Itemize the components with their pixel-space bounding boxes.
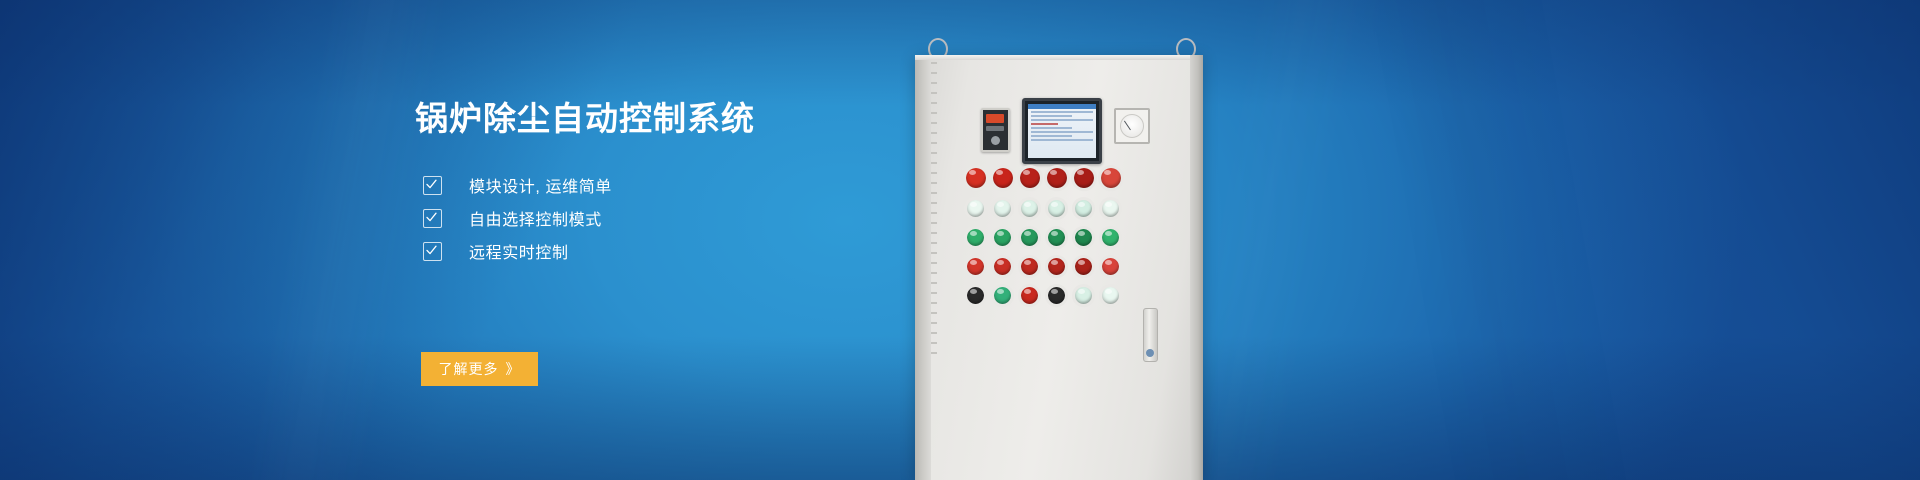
learn-more-label: 了解更多 — [439, 359, 499, 379]
indicator-lamp[interactable] — [1075, 200, 1092, 217]
indicator-lamp[interactable] — [967, 200, 984, 217]
indicator-lamp-cell — [1097, 287, 1124, 304]
indicator-lamp-cell — [962, 229, 989, 246]
check-icon — [423, 176, 442, 195]
feature-label: 模块设计, 运维简单 — [469, 173, 612, 197]
feature-label: 自由选择控制模式 — [469, 206, 602, 230]
indicator-lamp[interactable] — [994, 200, 1011, 217]
indicator-lamp-cell — [989, 287, 1016, 304]
list-item: 自由选择控制模式 — [423, 202, 935, 235]
indicator-lamp-cell — [1070, 258, 1097, 275]
indicator-lamp[interactable] — [1101, 168, 1121, 188]
indicator-lamp-cell — [1070, 229, 1097, 246]
page-title: 锅炉除尘自动控制系统 — [415, 100, 935, 139]
indicator-lamp-cell — [1070, 287, 1097, 304]
indicator-lamp-cell — [989, 200, 1016, 217]
list-item: 模块设计, 运维简单 — [423, 169, 935, 202]
indicator-lamp-grid — [962, 168, 1152, 316]
indicator-lamp-cell — [1043, 258, 1070, 275]
analog-gauge — [1114, 108, 1150, 144]
indicator-lamp[interactable] — [1021, 287, 1038, 304]
indicator-lamp-cell — [989, 229, 1016, 246]
indicator-lamp-cell — [1070, 168, 1097, 188]
indicator-lamp[interactable] — [967, 229, 984, 246]
indicator-lamp-row — [962, 200, 1152, 217]
indicator-lamp-cell — [1097, 229, 1124, 246]
indicator-lamp[interactable] — [1102, 287, 1119, 304]
indicator-lamp[interactable] — [1048, 287, 1065, 304]
indicator-lamp-row — [962, 229, 1152, 246]
indicator-lamp-cell — [1070, 200, 1097, 217]
hmi-touch-screen — [1022, 98, 1102, 164]
indicator-lamp-cell — [1043, 168, 1070, 188]
indicator-lamp-cell — [1097, 168, 1124, 188]
check-icon — [423, 242, 442, 261]
indicator-lamp[interactable] — [1020, 168, 1040, 188]
indicator-lamp[interactable] — [1102, 200, 1119, 217]
indicator-lamp[interactable] — [1021, 229, 1038, 246]
indicator-lamp[interactable] — [967, 287, 984, 304]
indicator-lamp-cell — [1016, 229, 1043, 246]
indicator-lamp-cell — [1043, 200, 1070, 217]
indicator-lamp[interactable] — [994, 258, 1011, 275]
indicator-lamp-cell — [1097, 258, 1124, 275]
indicator-lamp[interactable] — [1102, 229, 1119, 246]
chevron-right-icon: 》 — [506, 362, 521, 376]
check-icon — [423, 209, 442, 228]
indicator-lamp-cell — [1043, 287, 1070, 304]
indicator-lamp[interactable] — [994, 229, 1011, 246]
indicator-lamp[interactable] — [1075, 258, 1092, 275]
indicator-lamp-cell — [962, 287, 989, 304]
indicator-lamp-cell — [1097, 200, 1124, 217]
cabinet-left-edge — [915, 55, 931, 480]
indicator-lamp[interactable] — [1047, 168, 1067, 188]
control-cabinet-photo — [900, 0, 1240, 480]
indicator-lamp-cell — [1043, 229, 1070, 246]
indicator-lamp-cell — [962, 258, 989, 275]
feature-label: 远程实时控制 — [469, 239, 569, 263]
hero-banner: 锅炉除尘自动控制系统 模块设计, 运维简单 自由选择控制模式 远程实时控制 — [0, 0, 1920, 480]
indicator-lamp-cell — [989, 168, 1016, 188]
indicator-lamp-row — [962, 168, 1152, 188]
cabinet-vents — [931, 62, 939, 362]
indicator-lamp[interactable] — [1021, 200, 1038, 217]
indicator-lamp-cell — [962, 168, 989, 188]
cabinet-right-edge — [1190, 55, 1203, 480]
indicator-lamp[interactable] — [1021, 258, 1038, 275]
indicator-lamp-cell — [962, 200, 989, 217]
digital-meter — [981, 108, 1010, 152]
indicator-lamp-cell — [989, 258, 1016, 275]
indicator-lamp-cell — [1016, 200, 1043, 217]
learn-more-button[interactable]: 了解更多 》 — [421, 352, 538, 386]
indicator-lamp[interactable] — [1075, 287, 1092, 304]
cabinet-top-edge — [915, 55, 1203, 60]
indicator-lamp[interactable] — [1048, 229, 1065, 246]
indicator-lamp-row — [962, 258, 1152, 275]
indicator-lamp-cell — [1016, 258, 1043, 275]
list-item: 远程实时控制 — [423, 235, 935, 268]
indicator-lamp-cell — [1016, 168, 1043, 188]
indicator-lamp-row — [962, 287, 1152, 304]
indicator-lamp[interactable] — [1075, 229, 1092, 246]
cabinet-door-handle — [1143, 308, 1158, 362]
indicator-lamp[interactable] — [967, 258, 984, 275]
indicator-lamp[interactable] — [1048, 200, 1065, 217]
feature-list: 模块设计, 运维简单 自由选择控制模式 远程实时控制 — [423, 169, 935, 268]
hero-copy: 锅炉除尘自动控制系统 模块设计, 运维简单 自由选择控制模式 远程实时控制 — [415, 100, 935, 268]
indicator-lamp[interactable] — [966, 168, 986, 188]
indicator-lamp-cell — [1016, 287, 1043, 304]
indicator-lamp[interactable] — [1102, 258, 1119, 275]
indicator-lamp[interactable] — [1048, 258, 1065, 275]
indicator-lamp[interactable] — [994, 287, 1011, 304]
indicator-lamp[interactable] — [1074, 168, 1094, 188]
indicator-lamp[interactable] — [993, 168, 1013, 188]
